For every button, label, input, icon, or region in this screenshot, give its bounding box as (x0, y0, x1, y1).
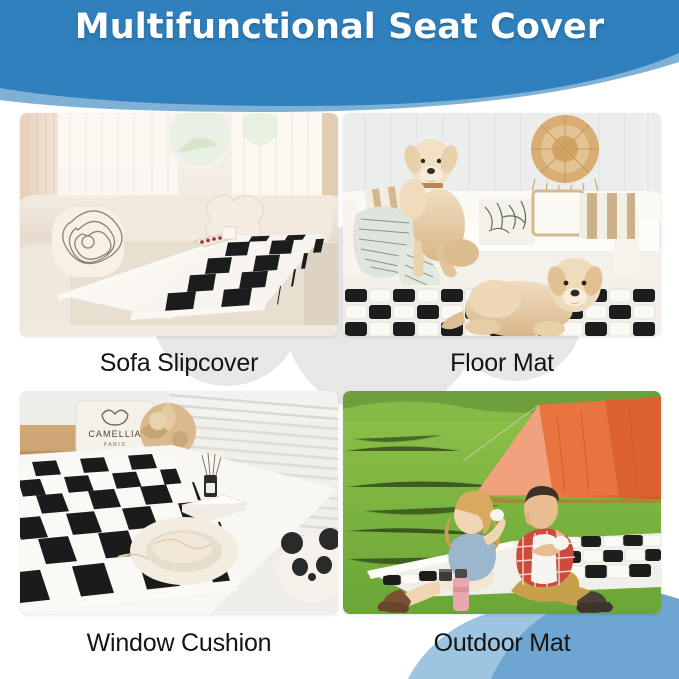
photo-window-cushion: CAMELLIA PARIS (20, 391, 338, 614)
caption-sofa-slipcover: Sofa Slipcover (20, 349, 338, 378)
product-card-floor-mat[interactable]: Floor Mat (343, 113, 661, 378)
product-card-outdoor-mat[interactable]: Outdoor Mat (343, 391, 661, 658)
header-banner: Multifunctional Seat Cover (0, 0, 679, 112)
caption-outdoor-mat: Outdoor Mat (343, 629, 661, 658)
product-grid: Sofa Slipcover (0, 112, 679, 679)
pillow-sub-text: PARIS (104, 442, 127, 448)
photo-floor-mat (343, 113, 661, 336)
pillow-brand-text: CAMELLIA (88, 429, 141, 439)
page-title: Multifunctional Seat Cover (0, 7, 679, 47)
caption-window-cushion: Window Cushion (20, 629, 338, 658)
photo-sofa-slipcover (20, 113, 338, 336)
photo-outdoor-mat (343, 391, 661, 614)
product-infographic: Multifunctional Seat Cover (0, 0, 679, 679)
product-card-window-cushion[interactable]: CAMELLIA PARIS (20, 391, 338, 658)
caption-floor-mat: Floor Mat (343, 349, 661, 378)
product-card-sofa-slipcover[interactable]: Sofa Slipcover (20, 113, 338, 378)
